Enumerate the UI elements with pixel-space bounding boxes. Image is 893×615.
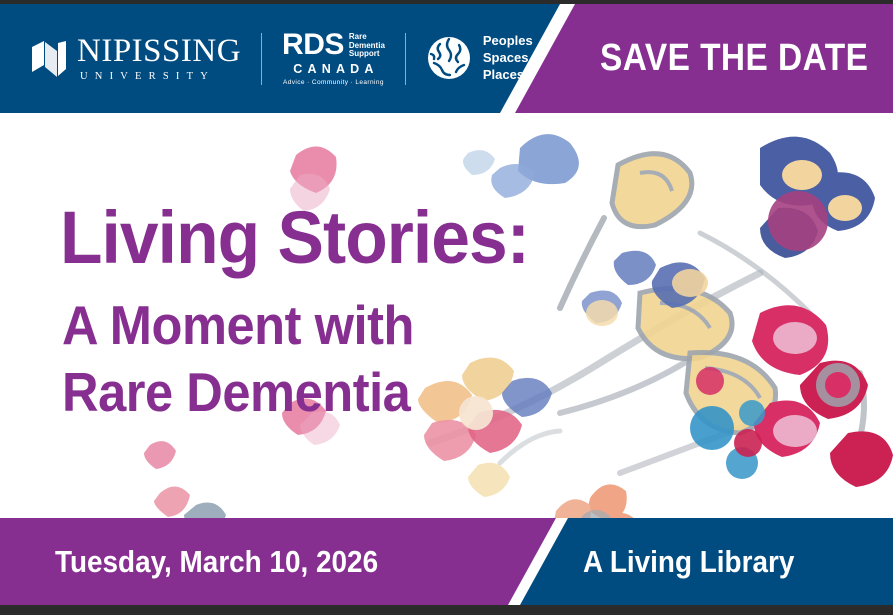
floral-artwork: [0, 113, 893, 518]
psp-brain-circle-icon: [426, 35, 472, 81]
psp-line1: Peoples: [483, 33, 533, 50]
rds-expansion-line3: Support: [349, 50, 385, 59]
logo-nipissing-university[interactable]: NIPISSING UNIVERSITY: [30, 35, 241, 83]
psp-line3: Places: [483, 67, 533, 84]
event-format-label: A Living Library: [583, 518, 794, 605]
logo-divider-2: [405, 33, 406, 85]
header-bar: NIPISSING UNIVERSITY RDS Rare Dementia S…: [0, 4, 893, 113]
rds-initials: RDS: [282, 31, 344, 59]
psp-wordmark: Peoples Spaces Places: [483, 33, 533, 84]
event-date: Tuesday, March 10, 2026: [55, 518, 378, 605]
nipissing-wordmark: NIPISSING UNIVERSITY: [77, 35, 241, 83]
nipissing-subtitle: UNIVERSITY: [77, 72, 241, 83]
logo-divider-1: [261, 33, 262, 85]
nipissing-n-mark-icon: [30, 39, 68, 79]
footer-bar: Tuesday, March 10, 2026 A Living Library: [0, 518, 893, 605]
save-the-date-poster: NIPISSING UNIVERSITY RDS Rare Dementia S…: [0, 0, 893, 615]
rds-expansion: Rare Dementia Support: [349, 31, 385, 60]
partner-logo-row: NIPISSING UNIVERSITY RDS Rare Dementia S…: [0, 4, 533, 113]
top-edge-strip: [0, 0, 893, 4]
nipissing-name: NIPISSING: [77, 35, 241, 68]
logo-rds-canada[interactable]: RDS Rare Dementia Support CANADA Advice …: [282, 31, 385, 87]
logo-peoples-spaces-places[interactable]: Peoples Spaces Places: [426, 33, 533, 84]
psp-line2: Spaces: [483, 50, 533, 67]
rds-tagline: Advice · Community · Learning: [283, 80, 384, 87]
save-the-date-banner: SAVE THE DATE: [600, 4, 868, 113]
bottom-edge-strip: [0, 605, 893, 615]
rds-country: CANADA: [288, 63, 378, 76]
rds-top-row: RDS Rare Dementia Support: [282, 31, 385, 60]
